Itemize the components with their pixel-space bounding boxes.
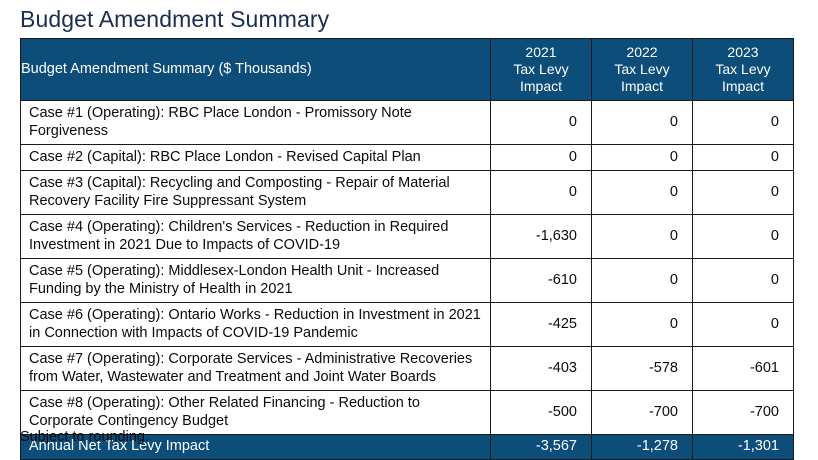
column-header-2022-line2: Tax Levy	[592, 61, 692, 78]
row-value-2023: -700	[693, 391, 794, 435]
table-row: Case #4 (Operating): Children's Services…	[21, 215, 794, 259]
column-header-2023: 2023 Tax Levy Impact	[693, 39, 794, 101]
row-value-2021: 0	[491, 101, 592, 145]
table-header: Budget Amendment Summary ($ Thousands) 2…	[21, 39, 794, 101]
page-title: Budget Amendment Summary	[20, 5, 329, 33]
row-description: Case #2 (Capital): RBC Place London - Re…	[21, 145, 491, 171]
row-value-2023: 0	[693, 303, 794, 347]
row-value-2022: 0	[592, 259, 693, 303]
row-value-2022: -578	[592, 347, 693, 391]
table-row: Case #7 (Operating): Corporate Services …	[21, 347, 794, 391]
footnote: Subject to rounding.	[20, 428, 149, 447]
row-value-2021: -403	[491, 347, 592, 391]
row-value-2021: -1,630	[491, 215, 592, 259]
budget-amendment-summary-page: Budget Amendment Summary Budget Amendmen…	[0, 0, 818, 455]
budget-table-container: Budget Amendment Summary ($ Thousands) 2…	[20, 38, 793, 460]
row-value-2023: 0	[693, 171, 794, 215]
column-header-2023-line2: Tax Levy	[693, 61, 793, 78]
row-value-2021: 0	[491, 171, 592, 215]
row-value-2023: 0	[693, 101, 794, 145]
row-value-2021: -500	[491, 391, 592, 435]
row-value-2022: 0	[592, 145, 693, 171]
row-value-2022: 0	[592, 303, 693, 347]
row-description: Case #5 (Operating): Middlesex-London He…	[21, 259, 491, 303]
column-header-description: Budget Amendment Summary ($ Thousands)	[21, 39, 491, 101]
column-header-2021: 2021 Tax Levy Impact	[491, 39, 592, 101]
row-value-2022: 0	[592, 171, 693, 215]
column-header-2023-year: 2023	[693, 44, 793, 61]
row-value-2023: 0	[693, 215, 794, 259]
row-description: Case #6 (Operating): Ontario Works - Red…	[21, 303, 491, 347]
budget-amendment-table: Budget Amendment Summary ($ Thousands) 2…	[20, 38, 794, 460]
column-header-2021-line3: Impact	[491, 78, 591, 95]
column-header-2022-year: 2022	[592, 44, 692, 61]
table-row: Case #3 (Capital): Recycling and Compost…	[21, 171, 794, 215]
table-row: Case #5 (Operating): Middlesex-London He…	[21, 259, 794, 303]
table-body: Case #1 (Operating): RBC Place London - …	[21, 101, 794, 460]
row-value-2023: 0	[693, 145, 794, 171]
total-value-2022: -1,278	[592, 435, 693, 460]
table-header-row: Budget Amendment Summary ($ Thousands) 2…	[21, 39, 794, 101]
column-header-2023-line3: Impact	[693, 78, 793, 95]
table-row: Case #1 (Operating): RBC Place London - …	[21, 101, 794, 145]
column-header-2021-line2: Tax Levy	[491, 61, 591, 78]
row-value-2022: -700	[592, 391, 693, 435]
table-row: Case #6 (Operating): Ontario Works - Red…	[21, 303, 794, 347]
row-description: Case #4 (Operating): Children's Services…	[21, 215, 491, 259]
total-value-2021: -3,567	[491, 435, 592, 460]
row-value-2023: -601	[693, 347, 794, 391]
total-value-2023: -1,301	[693, 435, 794, 460]
row-value-2022: 0	[592, 215, 693, 259]
row-value-2023: 0	[693, 259, 794, 303]
row-value-2022: 0	[592, 101, 693, 145]
column-header-2022-line3: Impact	[592, 78, 692, 95]
row-description: Case #7 (Operating): Corporate Services …	[21, 347, 491, 391]
row-description: Case #3 (Capital): Recycling and Compost…	[21, 171, 491, 215]
column-header-2022: 2022 Tax Levy Impact	[592, 39, 693, 101]
table-row: Case #2 (Capital): RBC Place London - Re…	[21, 145, 794, 171]
row-value-2021: -610	[491, 259, 592, 303]
row-value-2021: -425	[491, 303, 592, 347]
column-header-2021-year: 2021	[491, 44, 591, 61]
row-value-2021: 0	[491, 145, 592, 171]
row-description: Case #1 (Operating): RBC Place London - …	[21, 101, 491, 145]
